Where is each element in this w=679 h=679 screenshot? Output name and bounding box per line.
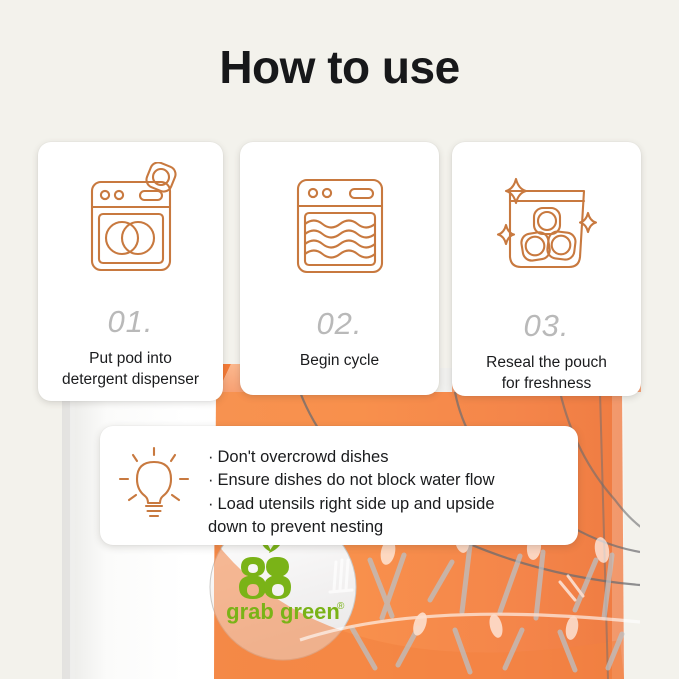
step-card-3[interactable]: 03. Reseal the pouch for freshness xyxy=(452,142,641,396)
tip-item-3: ·Load utensils right side up and upside xyxy=(208,493,495,516)
step-label: Reseal the pouch for freshness xyxy=(480,353,613,394)
tip-item-3-continued: down to prevent nesting xyxy=(208,516,495,539)
page-root: grab green ® How to use xyxy=(0,0,679,679)
steps-container: 01. Put pod into detergent dispenser xyxy=(0,0,679,679)
tip-bullet: · xyxy=(208,471,218,489)
dishwasher-running-icon xyxy=(290,166,390,286)
tip-item-1: ·Don't overcrowd dishes xyxy=(208,446,495,469)
step-number: 02. xyxy=(316,308,362,339)
step-label-line-1: Reseal the pouch xyxy=(486,353,607,374)
dishwasher-with-pod-icon xyxy=(72,156,190,288)
step-label-line-2: detergent dispenser xyxy=(62,370,199,391)
tip-item-2: ·Ensure dishes do not block water flow xyxy=(208,469,495,492)
step-number: 01. xyxy=(107,306,153,337)
step-card-2[interactable]: 02. Begin cycle xyxy=(240,142,439,395)
step-label-line-2: for freshness xyxy=(486,374,607,395)
tip-text: Ensure dishes do not block water flow xyxy=(218,471,495,489)
step-label: Begin cycle xyxy=(294,351,385,372)
tip-text: Load utensils right side up and upside xyxy=(218,495,495,513)
pouch-with-pods-icon xyxy=(492,168,602,286)
step-card-1[interactable]: 01. Put pod into detergent dispenser xyxy=(38,142,223,401)
step-label-line-1: Put pod into xyxy=(62,349,199,370)
lightbulb-icon xyxy=(100,426,208,545)
tip-text: Don't overcrowd dishes xyxy=(218,448,389,466)
step-number: 03. xyxy=(523,310,569,341)
tip-bullet: · xyxy=(208,448,218,466)
tips-card[interactable]: ·Don't overcrowd dishes ·Ensure dishes d… xyxy=(100,426,578,545)
step-label: Put pod into detergent dispenser xyxy=(56,349,205,390)
tip-bullet: · xyxy=(208,495,218,513)
step-label-line-1: Begin cycle xyxy=(300,351,379,372)
tips-list: ·Don't overcrowd dishes ·Ensure dishes d… xyxy=(208,426,495,540)
